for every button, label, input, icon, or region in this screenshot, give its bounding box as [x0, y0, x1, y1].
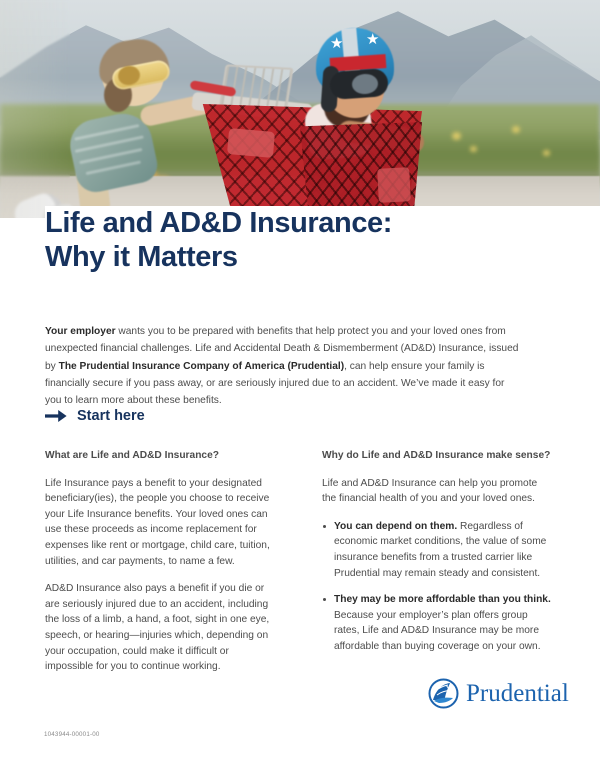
motion-blur-overlay: [0, 0, 70, 218]
bullet-2-bold: They may be more affordable than you thi…: [334, 594, 551, 605]
flower-icon: [470, 146, 477, 152]
intro-lead-bold: Your employer: [45, 326, 116, 337]
start-here-row: Start here: [45, 408, 145, 424]
bullet-2-text: Because your employer’s plan offers grou…: [334, 610, 541, 652]
cart-label-plate: [227, 128, 275, 158]
prudential-logo: Prudential: [428, 678, 569, 709]
footer-document-code: 1043944-00001-00: [44, 730, 100, 739]
intro-paragraph: Your employer wants you to be prepared w…: [45, 323, 520, 409]
document-page: ★ ★ Life and AD&D Insurance: Why it Matt…: [0, 0, 600, 776]
bullet-dot-icon: [323, 525, 326, 528]
flower-icon: [452, 132, 461, 140]
arrow-right-icon: [45, 408, 67, 424]
flower-icon: [512, 126, 520, 133]
benefits-bullet-list: You can depend on them. Regardless of ec…: [322, 519, 554, 655]
star-icon: ★: [330, 36, 343, 51]
column-left-heading: What are Life and AD&D Insurance?: [45, 448, 277, 464]
list-item: You can depend on them. Regardless of ec…: [322, 519, 554, 581]
column-left-paragraph-1: Life Insurance pays a benefit to your de…: [45, 476, 277, 570]
prudential-wordmark: Prudential: [466, 681, 569, 707]
cart-label-plate-front: [377, 167, 411, 203]
column-right-intro: Life and AD&D Insurance can help you pro…: [322, 476, 554, 507]
content-columns: What are Life and AD&D Insurance? Life I…: [45, 448, 555, 675]
column-left-paragraph-2: AD&D Insurance also pays a benefit if yo…: [45, 581, 277, 675]
flower-icon: [543, 150, 550, 156]
prudential-rock-icon: [428, 678, 459, 709]
page-title-line-2: Why it Matters: [45, 240, 515, 274]
bullet-1-bold: You can depend on them.: [334, 521, 457, 532]
star-icon: ★: [366, 32, 379, 47]
column-right: Why do Life and AD&D Insurance make sens…: [322, 448, 554, 675]
column-left: What are Life and AD&D Insurance? Life I…: [45, 448, 277, 675]
bullet-dot-icon: [323, 598, 326, 601]
intro-company-bold: The Prudential Insurance Company of Amer…: [59, 361, 345, 372]
hero-image: ★ ★: [0, 0, 600, 218]
page-title: Life and AD&D Insurance: Why it Matters: [45, 206, 515, 274]
title-block: Life and AD&D Insurance: Why it Matters: [45, 206, 515, 274]
list-item: They may be more affordable than you thi…: [322, 592, 554, 654]
start-here-label: Start here: [77, 408, 145, 424]
page-title-line-1: Life and AD&D Insurance:: [45, 207, 392, 239]
column-right-heading: Why do Life and AD&D Insurance make sens…: [322, 448, 554, 464]
